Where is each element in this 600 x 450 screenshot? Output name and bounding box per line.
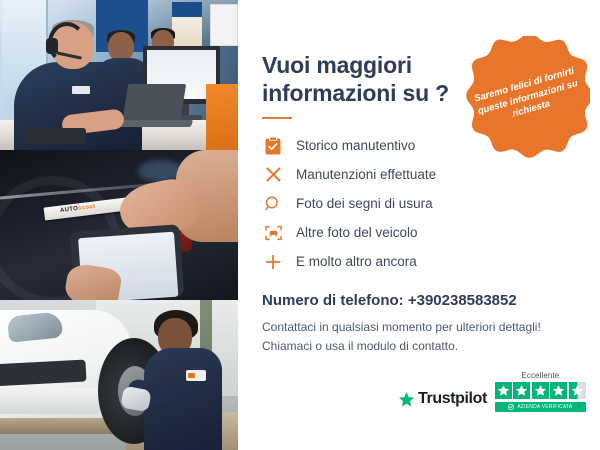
tools-cross-icon: [262, 165, 284, 185]
trustpilot-star-1: [495, 382, 512, 399]
ruler-brand-part1: AUTO: [60, 206, 79, 214]
star-icon: [571, 384, 584, 397]
trustpilot-widget[interactable]: Trustpilot Eccellente AZIENDA VERIFICATA: [398, 371, 586, 412]
contact-copy-line2: Chiamaci o usa il modulo di contatto.: [262, 337, 572, 356]
operator-name-badge-shape: [72, 86, 90, 94]
photo-column: AUTOscout: [0, 0, 238, 450]
feature-item-altre-foto-veicolo: Altre foto del veicolo: [262, 218, 582, 247]
contact-copy: Contattaci in qualsiasi momento per ulte…: [262, 318, 572, 355]
phone-number[interactable]: +390238583852: [408, 292, 517, 309]
photo-damage-inspection: AUTOscout: [0, 150, 238, 300]
desk-tablet-shape: [24, 128, 86, 144]
car-scan-frame-icon: [262, 223, 284, 243]
clipboard-check-icon: [262, 136, 284, 156]
headset-icon: [451, 50, 475, 74]
photo-call-center: [0, 0, 238, 150]
trustpilot-star-2: [513, 382, 530, 399]
feature-label: Storico manutentivo: [296, 138, 415, 153]
verified-company-label: AZIENDA VERIFICATA: [517, 404, 572, 410]
trustpilot-rating-label: Eccellente: [521, 371, 559, 380]
wall-poster-secondary-shape: [210, 4, 238, 46]
magnifier-icon: [262, 194, 284, 214]
magnifier-icon-svg: [264, 195, 282, 213]
trustpilot-star-icon: [398, 391, 415, 408]
feature-item-foto-segni-usura: Foto dei segni di usura: [262, 189, 582, 218]
star-icon: [515, 384, 528, 397]
contact-copy-line1: Contattaci in qualsiasi momento per ulte…: [262, 318, 572, 337]
feature-label: Foto dei segni di usura: [296, 196, 433, 211]
ruler-brand-part2: scout: [78, 204, 96, 212]
check-circle-icon: [508, 404, 514, 410]
promo-banner: AUTOscout Vuoi maggior: [0, 0, 600, 450]
feature-item-manutenzioni-effettuate: Manutenzioni effettuate: [262, 160, 582, 189]
car-bumper-shape: [0, 388, 100, 414]
feature-label: E molto altro ancora: [296, 254, 417, 269]
badge-text: Saremo felici di fornirti queste informa…: [473, 66, 583, 131]
plus-icon-svg: [264, 253, 282, 271]
orange-shelf-shape: [206, 84, 238, 150]
phone-label: Numero di telefono:: [262, 292, 408, 309]
trustpilot-wordmark: Trustpilot: [418, 390, 487, 408]
trustpilot-star-5-half: [569, 382, 586, 399]
trustpilot-logo: Trustpilot: [398, 390, 487, 412]
feature-list: Storico manutentivo Manutenzioni effettu…: [262, 131, 582, 276]
trustpilot-star-3: [532, 382, 549, 399]
phone-line: Numero di telefono: +390238583852: [262, 292, 517, 309]
star-icon: [552, 384, 565, 397]
feature-item-molto-altro: E molto altro ancora: [262, 247, 582, 276]
wall-poster-shape: [172, 2, 202, 46]
star-icon: [534, 384, 547, 397]
feature-item-storico-manutentivo: Storico manutentivo: [262, 131, 582, 160]
verified-company-badge: AZIENDA VERIFICATA: [495, 402, 586, 412]
plus-icon: [262, 252, 284, 272]
content-panel: Vuoi maggiori informazioni su ? Saremo f…: [238, 0, 600, 450]
trustpilot-rating-block: Eccellente AZIENDA VERIFICATA: [495, 371, 586, 412]
laptop-screen-shape: [122, 84, 186, 124]
title-divider: [262, 117, 292, 119]
star-icon: [497, 384, 510, 397]
trustpilot-stars: [495, 382, 586, 399]
page-title-line1: Vuoi maggiori: [262, 52, 412, 78]
feature-label: Altre foto del veicolo: [296, 225, 418, 240]
photo-wheel-inspection: [0, 300, 238, 450]
mechanic-uniform-patch-shape: [186, 370, 206, 381]
feature-label: Manutenzioni effettuate: [296, 167, 436, 182]
page-title-line2: informazioni su ?: [262, 79, 477, 107]
clipboard-check-icon-svg: [265, 137, 281, 155]
page-title: Vuoi maggiori informazioni su ?: [262, 51, 477, 107]
car-scan-frame-icon-svg: [264, 224, 283, 242]
trustpilot-star-4: [550, 382, 567, 399]
tools-cross-icon-svg: [264, 165, 283, 184]
